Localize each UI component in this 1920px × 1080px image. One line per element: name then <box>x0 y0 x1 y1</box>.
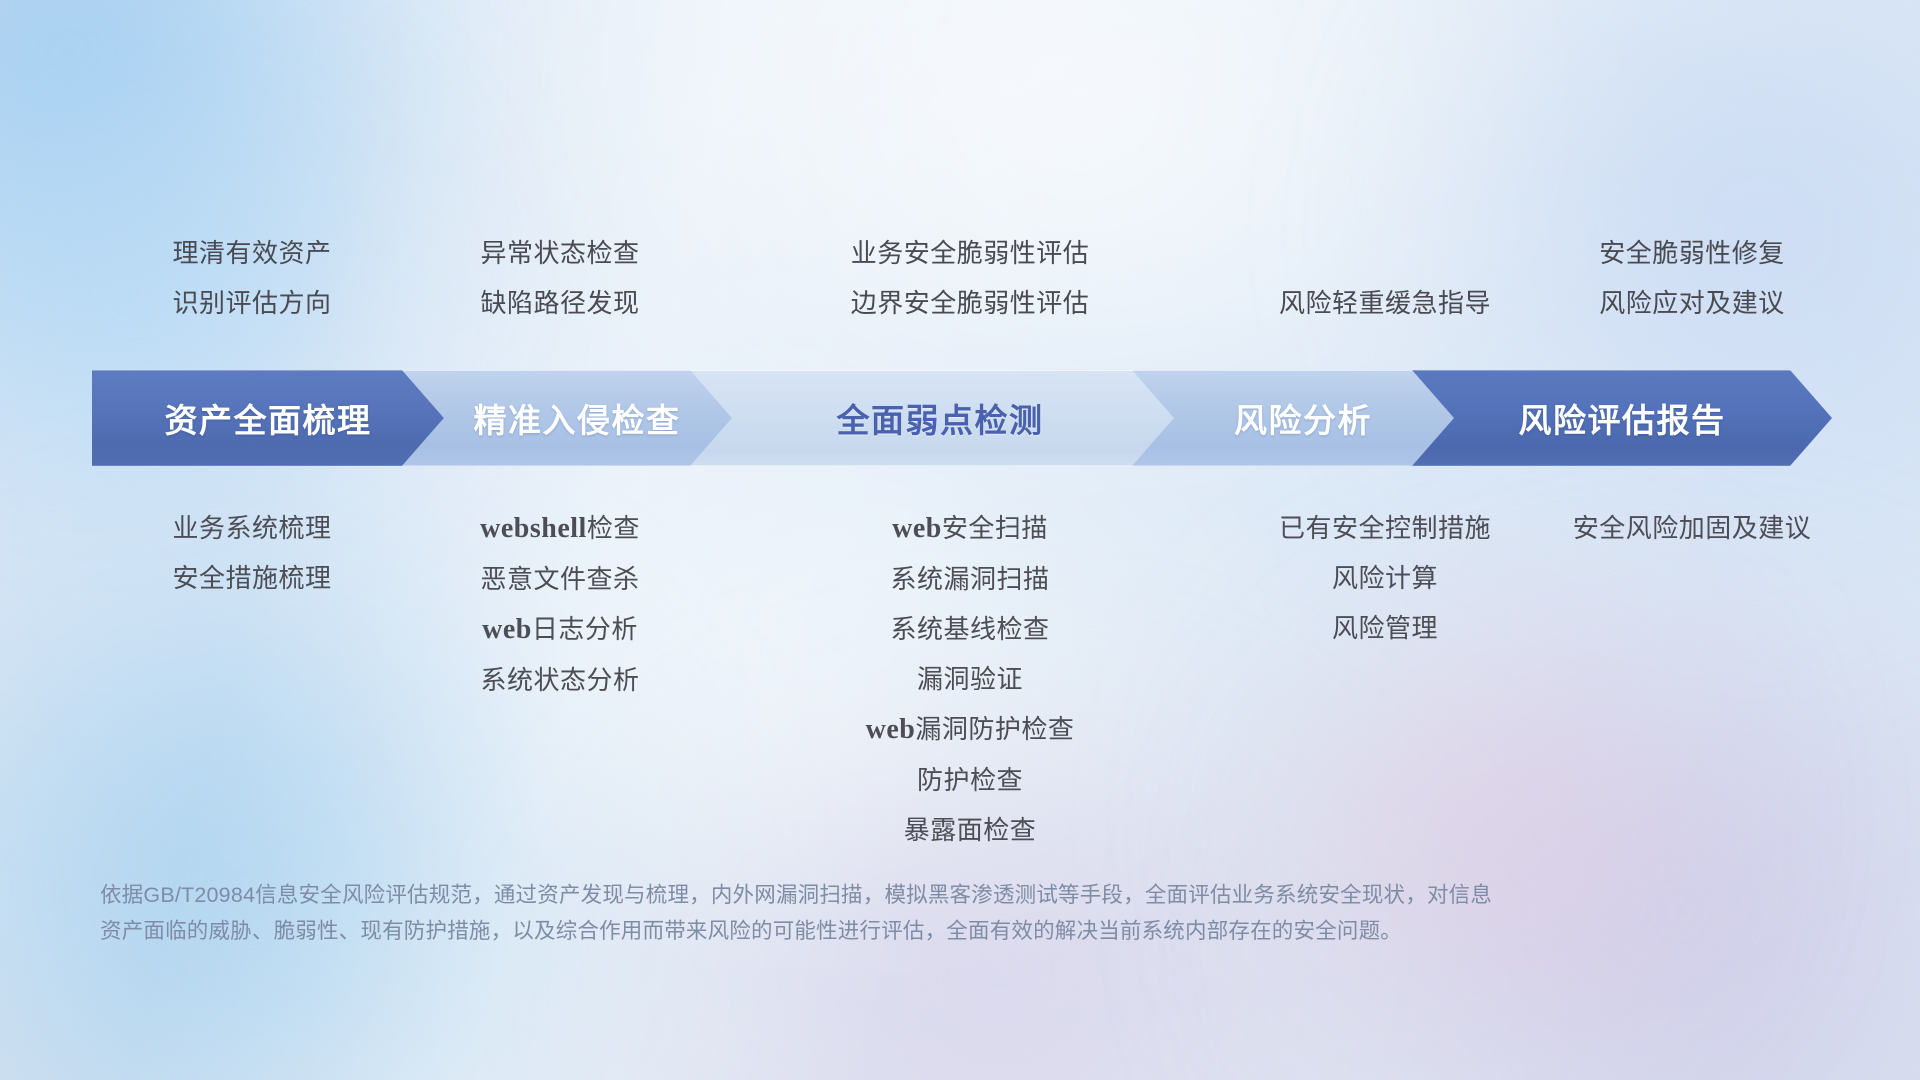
stage-outputs-asset-inventory: 业务系统梳理 安全措施梳理 <box>92 503 412 603</box>
process-step-label: 资产全面梳理 <box>165 394 372 442</box>
stage-output-item: 安全风险加固及建议 <box>1492 503 1892 553</box>
stage-input-item: 安全脆弱性修复 <box>1492 228 1892 278</box>
process-step-label: 风险分析 <box>1234 394 1372 442</box>
process-step-risk-report[interactable]: 风险评估报告 <box>1412 370 1832 466</box>
stage-inputs-risk-report: 安全脆弱性修复 风险应对及建议 <box>1492 228 1892 328</box>
stage-output-item: 安全措施梳理 <box>92 553 412 603</box>
stage-output-item: 业务系统梳理 <box>92 503 412 553</box>
process-step-label: 精准入侵检查 <box>474 394 681 442</box>
process-arrow-band: 资产全面梳理 精准入侵检查 全面弱点检测 风险分析 风险评估报告 <box>92 370 1832 466</box>
process-step-asset-inventory[interactable]: 资产全面梳理 <box>92 370 444 466</box>
stage-input-item: 识别评估方向 <box>92 278 412 328</box>
process-step-label: 全面弱点检测 <box>837 394 1044 442</box>
stage-inputs-asset-inventory: 理清有效资产 识别评估方向 <box>92 228 412 328</box>
stage-input-item: 理清有效资产 <box>92 228 412 278</box>
process-step-label: 风险评估报告 <box>1519 394 1726 442</box>
slide-canvas: 理清有效资产 识别评估方向 业务系统梳理 安全措施梳理 异常状态检查 缺陷路径发… <box>0 0 1920 1080</box>
process-step-risk-analysis[interactable]: 风险分析 <box>1132 370 1474 466</box>
footer-line-2: 资产面临的威胁、脆弱性、现有防护措施，以及综合作用而带来风险的可能性进行评估，全… <box>100 913 1630 949</box>
stage-outputs-risk-report: 安全风险加固及建议 <box>1492 503 1892 553</box>
footer-description: 依据GB/T20984信息安全风险评估规范，通过资产发现与梳理，内外网漏洞扫描，… <box>100 877 1630 949</box>
stage-input-item: 风险应对及建议 <box>1492 278 1892 328</box>
process-step-intrusion-check[interactable]: 精准入侵检查 <box>402 370 752 466</box>
footer-line-1: 依据GB/T20984信息安全风险评估规范，通过资产发现与梳理，内外网漏洞扫描，… <box>100 877 1630 913</box>
process-step-weakness-detection[interactable]: 全面弱点检测 <box>690 370 1190 466</box>
